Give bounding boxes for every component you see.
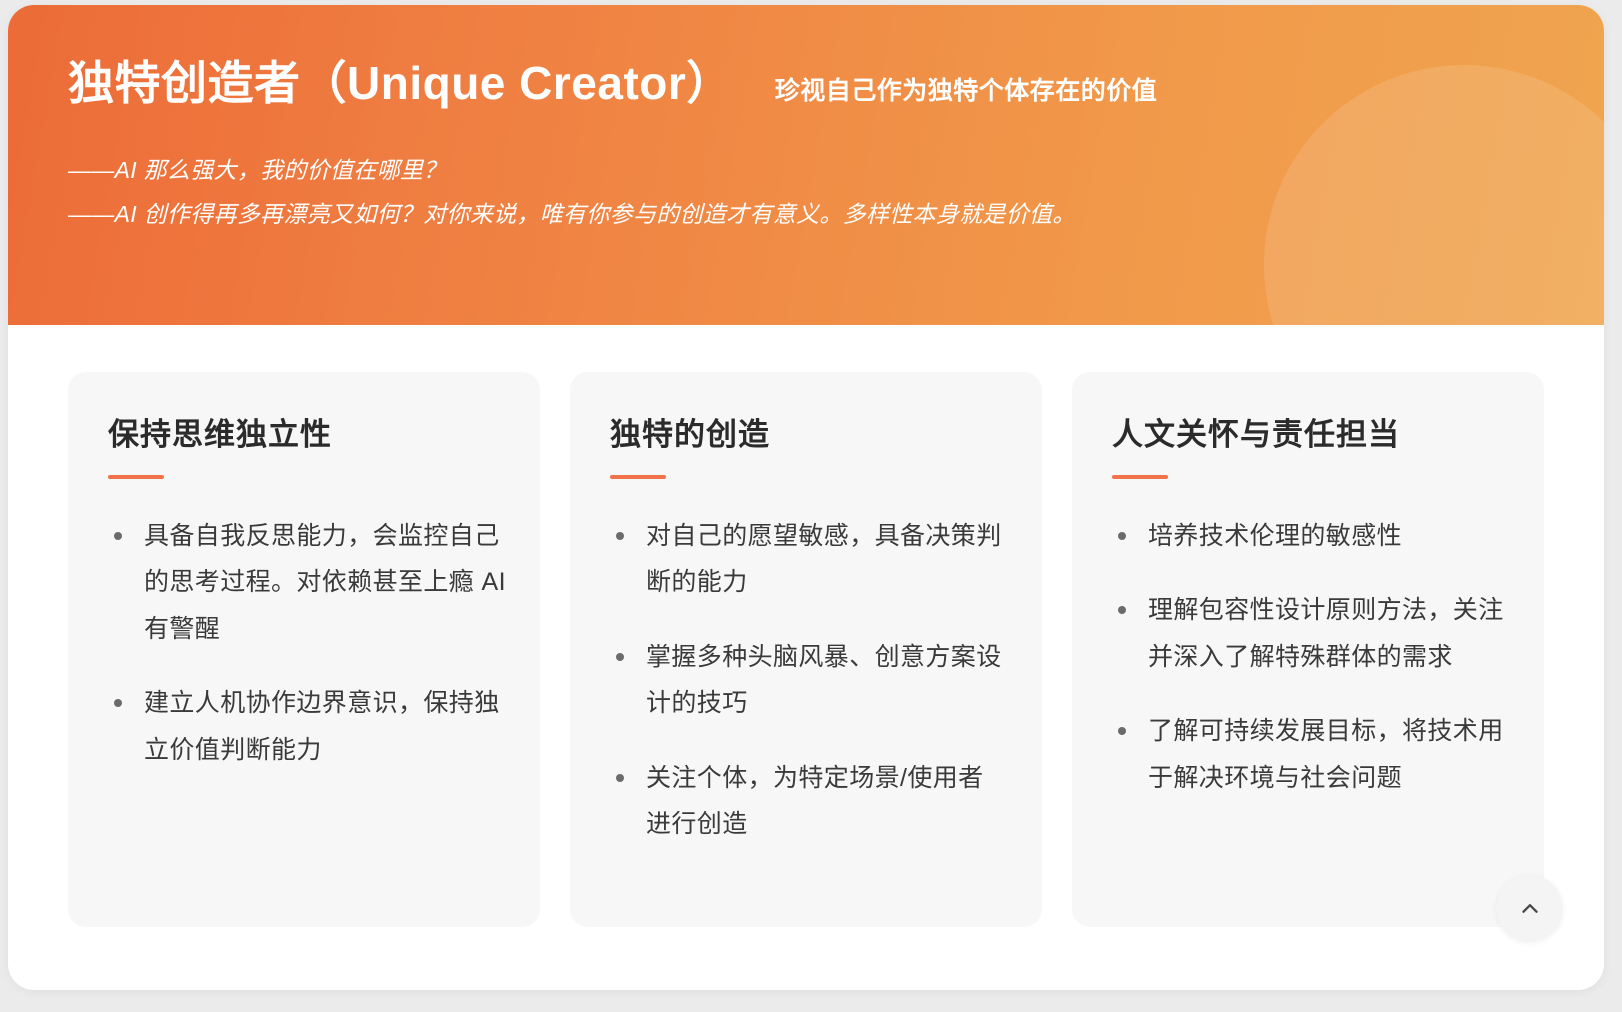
hero-quote-list: ——AI 那么强大，我的价值在哪里？ ——AI 创作得再多再漂亮又如何？对你来说… [68, 148, 1544, 236]
content-panel: 独特创造者（Unique Creator） 珍视自己作为独特个体存在的价值 ——… [8, 5, 1604, 990]
list-item: 建立人机协作边界意识，保持独立价值判断能力 [108, 680, 506, 773]
card-bullet-list: 具备自我反思能力，会监控自己的思考过程。对依赖甚至上瘾 AI 有警醒 建立人机协… [108, 513, 506, 774]
card-title: 保持思维独立性 [108, 416, 506, 455]
card-title: 独特的创造 [610, 416, 1008, 455]
card-accent-rule [610, 475, 666, 479]
list-item: 理解包容性设计原则方法，关注并深入了解特殊群体的需求 [1112, 587, 1510, 680]
list-item: 关注个体，为特定场景/使用者进行创造 [610, 755, 1008, 848]
list-item: 具备自我反思能力，会监控自己的思考过程。对依赖甚至上瘾 AI 有警醒 [108, 513, 506, 653]
scroll-to-top-button[interactable] [1496, 875, 1563, 942]
card-grid: 保持思维独立性 具备自我反思能力，会监控自己的思考过程。对依赖甚至上瘾 AI 有… [68, 372, 1544, 927]
list-item: 掌握多种头脑风暴、创意方案设计的技巧 [610, 634, 1008, 727]
card-bullet-list: 培养技术伦理的敏感性 理解包容性设计原则方法，关注并深入了解特殊群体的需求 了解… [1112, 513, 1510, 802]
page-root: 独特创造者（Unique Creator） 珍视自己作为独特个体存在的价值 ——… [0, 0, 1622, 1012]
main-content: 保持思维独立性 具备自我反思能力，会监控自己的思考过程。对依赖甚至上瘾 AI 有… [8, 325, 1604, 990]
hero-content: 独特创造者（Unique Creator） 珍视自己作为独特个体存在的价值 ——… [8, 5, 1604, 236]
card-keep-independent-thinking: 保持思维独立性 具备自我反思能力，会监控自己的思考过程。对依赖甚至上瘾 AI 有… [68, 372, 540, 927]
card-accent-rule [108, 475, 164, 479]
card-bullet-list: 对自己的愿望敏感，具备决策判断的能力 掌握多种头脑风暴、创意方案设计的技巧 关注… [610, 513, 1008, 848]
card-title: 人文关怀与责任担当 [1112, 416, 1510, 455]
hero-title-row: 独特创造者（Unique Creator） 珍视自己作为独特个体存在的价值 [68, 57, 1544, 110]
list-item: 培养技术伦理的敏感性 [1112, 513, 1510, 560]
list-item: 了解可持续发展目标，将技术用于解决环境与社会问题 [1112, 708, 1510, 801]
page-subtitle: 珍视自己作为独特个体存在的价值 [775, 71, 1158, 107]
hero-quote-line: ——AI 那么强大，我的价值在哪里？ [68, 148, 1544, 192]
card-accent-rule [1112, 475, 1168, 479]
list-item: 对自己的愿望敏感，具备决策判断的能力 [610, 513, 1008, 606]
hero-quote-line: ——AI 创作得再多再漂亮又如何？对你来说，唯有你参与的创造才有意义。多样性本身… [68, 192, 1544, 236]
hero-header: 独特创造者（Unique Creator） 珍视自己作为独特个体存在的价值 ——… [8, 5, 1604, 325]
page-title: 独特创造者（Unique Creator） [68, 57, 733, 110]
chevron-up-icon [1517, 896, 1543, 922]
card-unique-creation: 独特的创造 对自己的愿望敏感，具备决策判断的能力 掌握多种头脑风暴、创意方案设计… [570, 372, 1042, 927]
card-humanistic-care-responsibility: 人文关怀与责任担当 培养技术伦理的敏感性 理解包容性设计原则方法，关注并深入了解… [1072, 372, 1544, 927]
